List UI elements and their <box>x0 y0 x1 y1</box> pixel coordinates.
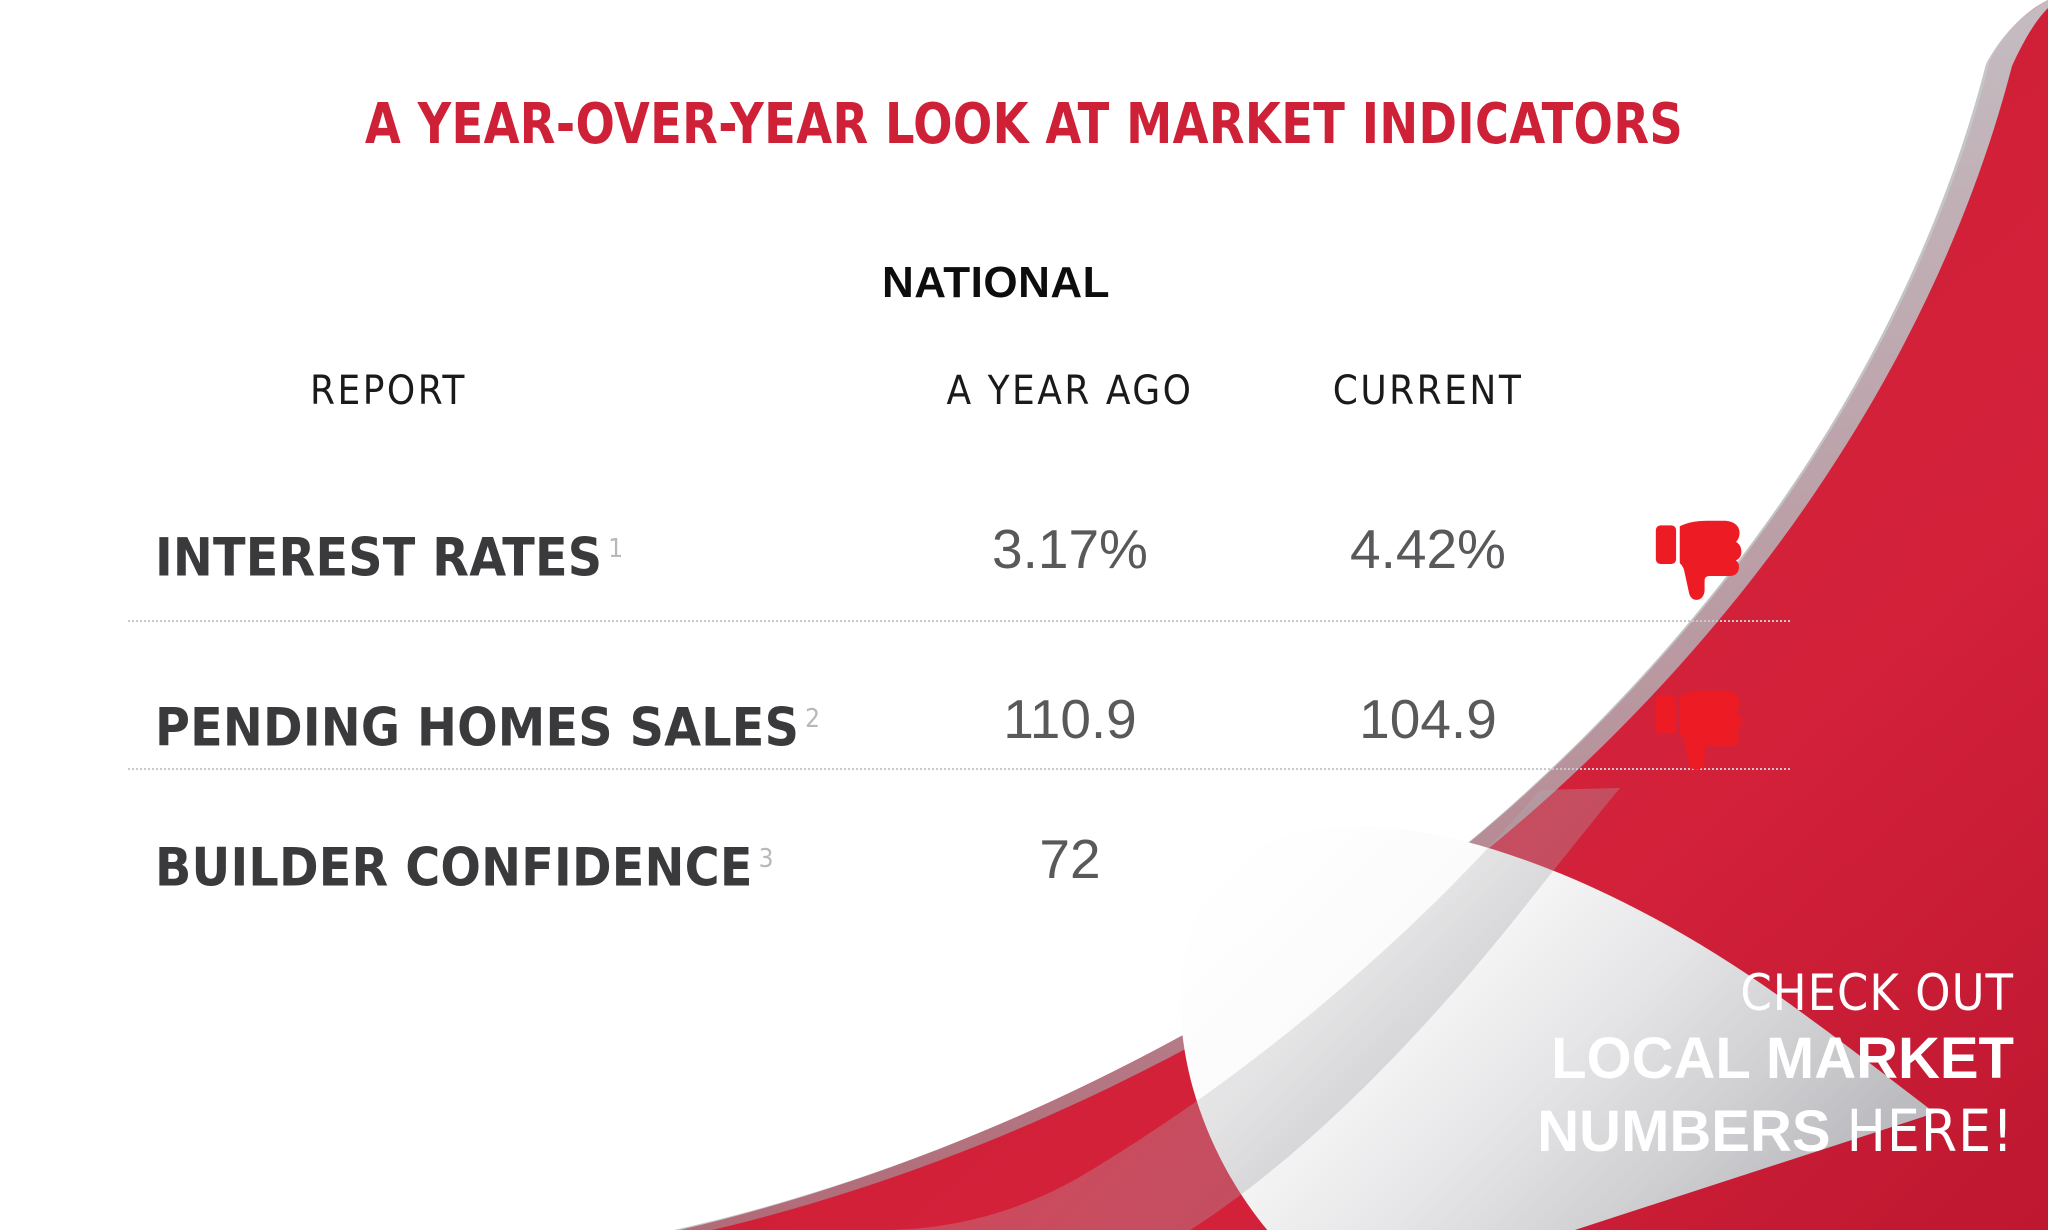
callout-line-check-out: CHECK OUT <box>1454 963 2014 1023</box>
row-label-text: BUILDER CONFIDENCE <box>155 838 753 899</box>
row-separator <box>128 620 1790 622</box>
row-label-text: PENDING HOMES SALES <box>155 698 799 759</box>
local-market-callout[interactable]: CHECK OUT LOCAL MARKET NUMBERS HERE! <box>1454 963 2014 1168</box>
table-row: BUILDER CONFIDENCE3 72 <box>0 828 2048 928</box>
row-label: INTEREST RATES1 <box>155 518 775 590</box>
row-label-text: INTEREST RATES <box>155 528 602 589</box>
footnote-marker: 2 <box>805 704 820 734</box>
row-value-year-ago: 110.9 <box>880 688 1260 750</box>
table-row: PENDING HOMES SALES2 110.9 104.9 <box>0 688 2048 788</box>
row-value-current: 4.42% <box>1248 518 1608 580</box>
footnote-marker: 1 <box>608 534 623 564</box>
callout-line-numbers-here: NUMBERS HERE! <box>1454 1095 2014 1168</box>
column-header-a-year-ago: A YEAR AGO <box>880 368 1260 414</box>
thumbs-down-icon <box>1654 518 1746 600</box>
footnote-marker: 3 <box>759 844 774 874</box>
row-label: PENDING HOMES SALES2 <box>155 688 775 760</box>
thumbs-down-icon <box>1654 688 1746 770</box>
table-row: INTEREST RATES1 3.17% 4.42% <box>0 518 2048 618</box>
row-label: BUILDER CONFIDENCE3 <box>155 828 775 900</box>
row-value-year-ago: 3.17% <box>880 518 1260 580</box>
row-value-year-ago: 72 <box>880 828 1260 890</box>
column-header-report: REPORT <box>310 368 730 414</box>
callout-numbers-text: NUMBERS <box>1537 1099 1830 1164</box>
table-header-row: REPORT A YEAR AGO CURRENT <box>0 368 2048 424</box>
callout-here-text: HERE! <box>1847 1097 2014 1165</box>
row-trend-cell <box>1610 518 1790 600</box>
row-value-current: 104.9 <box>1248 688 1608 750</box>
callout-line-local-market: LOCAL MARKET <box>1454 1023 2014 1095</box>
column-header-current: CURRENT <box>1248 368 1608 414</box>
slide-canvas: A YEAR-OVER-YEAR LOOK AT MARKET INDICATO… <box>0 0 2048 1230</box>
row-trend-cell <box>1610 688 1790 770</box>
